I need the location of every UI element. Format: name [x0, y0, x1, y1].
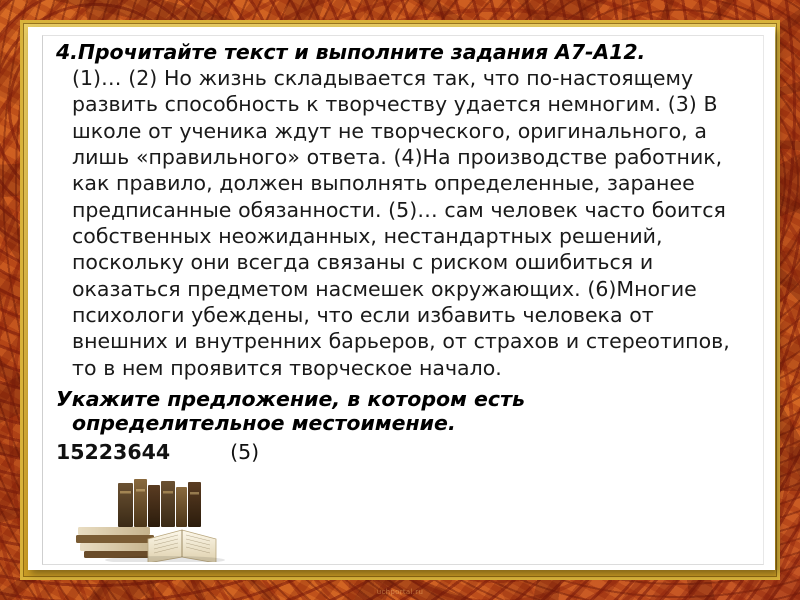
content-sheet: 4.Прочитайте текст и выполните задания А…	[28, 27, 775, 570]
answer-option-five[interactable]: (5)	[230, 440, 259, 464]
page-title: 4.Прочитайте текст и выполните задания А…	[56, 41, 757, 64]
reading-passage: (1)… (2) Но жизнь складывается так, что …	[72, 65, 744, 381]
task-instruction-line-2: определительное местоимение.	[72, 411, 696, 435]
answer-options[interactable]: 15223644	[56, 440, 170, 464]
task-instruction: Укажите предложение, в котором есть опре…	[56, 387, 696, 435]
slide-canvas: 4.Прочитайте текст и выполните задания А…	[0, 0, 800, 600]
watermark-text: uchportal.ru	[0, 588, 800, 596]
answer-options-row: 15223644(5)	[56, 440, 757, 465]
slide-content: 4.Прочитайте текст и выполните задания А…	[28, 27, 775, 464]
stack-of-books-illustration	[70, 477, 275, 562]
task-instruction-line-1: Укажите предложение, в котором есть	[56, 387, 525, 411]
